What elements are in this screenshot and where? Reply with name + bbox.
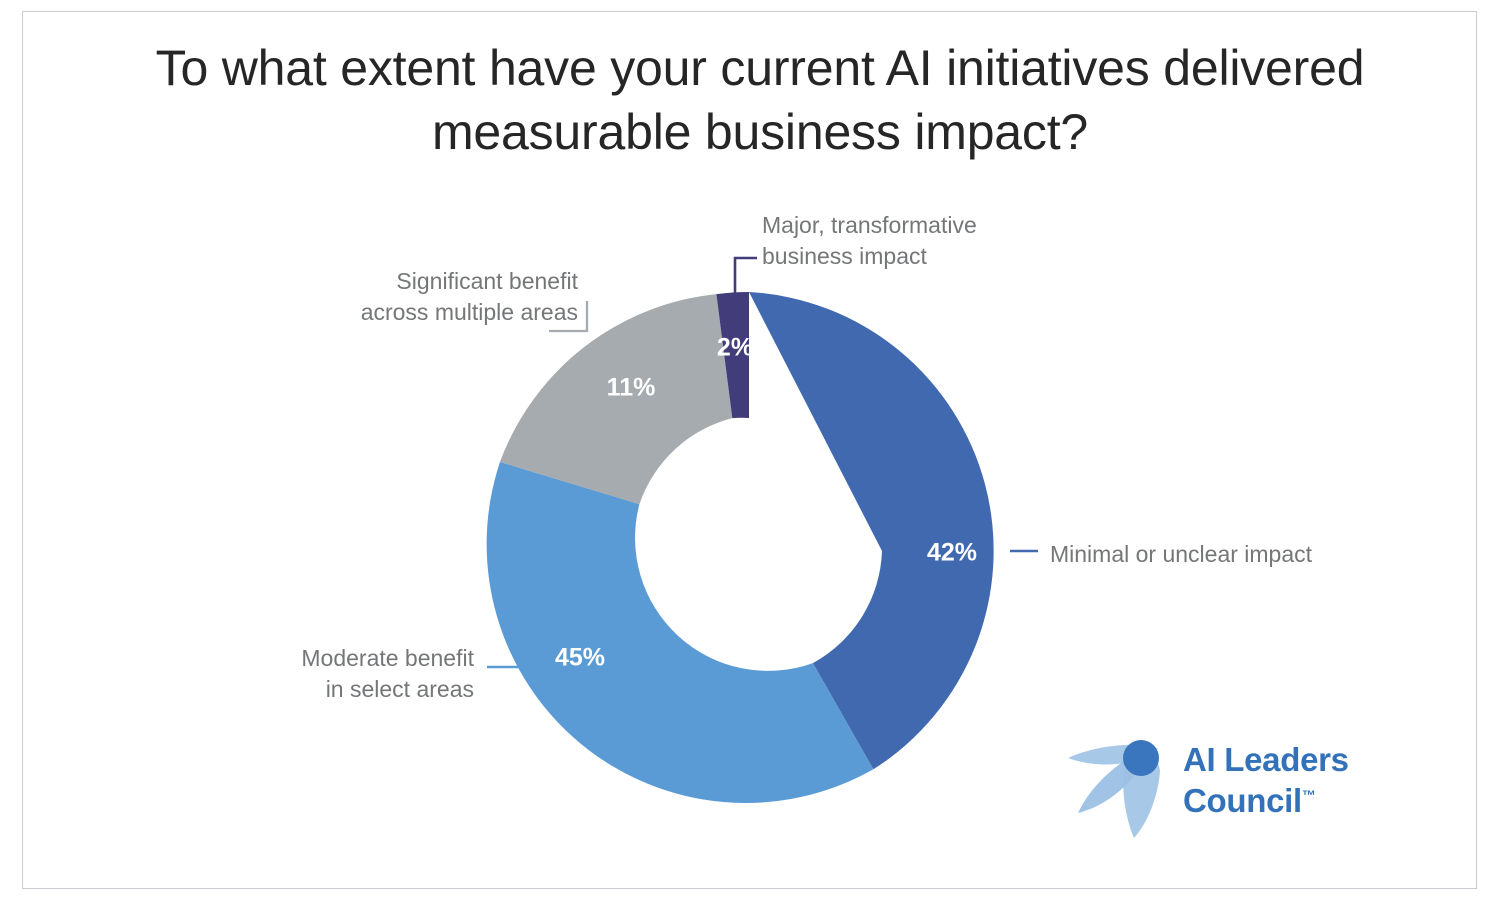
logo-line-2-wrapper: Council™ bbox=[1183, 781, 1349, 822]
logo-wordmark: AI Leaders Council™ bbox=[1183, 740, 1349, 822]
ai-leaders-council-bird-mark-icon bbox=[1066, 733, 1176, 841]
slice-value-minimal-or-unclear-impact: 42% bbox=[927, 539, 977, 568]
brand-logo: AI Leaders Council™ bbox=[1066, 733, 1376, 843]
slice-label-major-transformative-business-impact: Major, transformative business impact bbox=[762, 210, 977, 271]
slice-label-moderate-benefit-in-select-areas: Moderate benefit in select areas bbox=[258, 643, 474, 704]
leader-line-major-transformative-business-impact bbox=[735, 258, 757, 293]
slice-value-major-transformative-business-impact: 2% bbox=[717, 334, 753, 363]
slice-value-moderate-benefit-in-select-areas: 45% bbox=[555, 644, 605, 673]
logo-line-1: AI Leaders bbox=[1183, 740, 1349, 781]
slice-label-significant-benefit-across-multiple-areas: Significant benefit across multiple area… bbox=[316, 266, 578, 327]
donut-slice-moderate-benefit-in-select-areas[interactable] bbox=[487, 462, 874, 803]
logo-line-2: Council bbox=[1183, 782, 1302, 819]
slice-value-significant-benefit-across-multiple-areas: 11% bbox=[607, 374, 656, 403]
trademark-symbol: ™ bbox=[1302, 787, 1316, 803]
chart-canvas: To what extent have your current AI init… bbox=[0, 0, 1500, 902]
slice-label-minimal-or-unclear-impact: Minimal or unclear impact bbox=[1050, 539, 1312, 570]
